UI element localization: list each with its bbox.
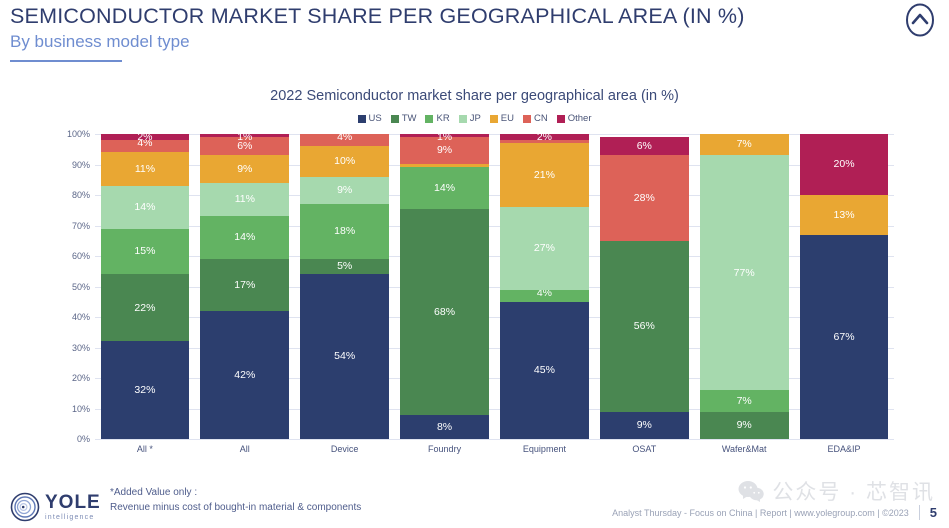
bar-segment-eu[interactable]: 13% — [800, 195, 889, 235]
legend-swatch-jp — [459, 115, 467, 123]
plot-area: 0%10%20%30%40%50%60%70%80%90%100% 32%22%… — [0, 134, 949, 454]
bar-segment-other[interactable]: 1% — [400, 134, 489, 137]
footer-bar: Analyst Thursday - Focus on China | Repo… — [612, 505, 937, 520]
bar-group: 32%22%15%14%11%4%2%42%17%14%11%9%6%1%54%… — [95, 134, 894, 439]
bar-segment-eu[interactable]: 21% — [500, 143, 589, 207]
chevron-up-circle-icon[interactable] — [903, 3, 937, 37]
bar-segment-label: 22% — [134, 303, 155, 314]
bar-segment-label: 9% — [437, 145, 452, 156]
y-tick-label: 0% — [52, 434, 90, 444]
bar-segment-kr[interactable]: 4% — [500, 290, 589, 302]
x-tick-label: Equipment — [500, 444, 589, 454]
page-number: 5 — [930, 505, 937, 520]
bar-segment-label: 67% — [834, 332, 855, 343]
legend-label-eu: EU — [501, 113, 514, 124]
bar-segment-kr[interactable]: 15% — [101, 229, 190, 275]
yole-spiral-icon — [10, 492, 40, 522]
bar-segment-label: 2% — [537, 132, 552, 143]
bar-segment-tw[interactable]: 56% — [600, 241, 689, 412]
bar-segment-tw[interactable]: 17% — [200, 259, 289, 311]
legend-label-tw: TW — [402, 113, 417, 124]
bar-segment-kr[interactable]: 18% — [300, 204, 389, 259]
bar-segment-us[interactable]: 45% — [500, 302, 589, 439]
y-axis: 0%10%20%30%40%50%60%70%80%90%100% — [52, 134, 90, 439]
bar-segment-label: 2% — [137, 132, 152, 143]
bar-segment-kr[interactable]: 14% — [400, 167, 489, 209]
bar-column[interactable]: 45%4%27%21%2% — [500, 134, 589, 439]
bar-column[interactable]: 9%56%28%6% — [600, 134, 689, 439]
bar-column[interactable]: 8%68%14%9%1% — [400, 134, 489, 439]
bar-segment-label: 7% — [737, 396, 752, 407]
bar-segment-us[interactable]: 42% — [200, 311, 289, 439]
bar-segment-label: 21% — [534, 170, 555, 181]
bar-segment-label: 68% — [434, 307, 455, 318]
bar-segment-label: 9% — [237, 164, 252, 175]
bar-segment-jp[interactable]: 14% — [101, 186, 190, 229]
bar-segment-label: 14% — [134, 202, 155, 213]
bar-segment-label: 1% — [437, 132, 452, 143]
bar-segment-eu[interactable]: 9% — [200, 155, 289, 182]
x-tick-label: Wafer&Mat — [700, 444, 789, 454]
bar-segment-label: 28% — [634, 193, 655, 204]
bar-column[interactable]: 54%5%18%9%10%4% — [300, 134, 389, 439]
bar-segment-label: 9% — [637, 420, 652, 431]
bar-segment-us[interactable]: 9% — [600, 412, 689, 439]
wechat-icon — [738, 480, 764, 502]
legend-label-us: US — [369, 113, 382, 124]
bar-segment-label: 4% — [337, 132, 352, 143]
bar-column[interactable]: 67%13%20% — [800, 134, 889, 439]
footnote-line-1: *Added Value only : — [110, 486, 361, 501]
watermark-text: 公众号 · 芯智讯 — [772, 476, 935, 506]
bar-segment-label: 11% — [235, 194, 255, 205]
bar-segment-label: 45% — [534, 365, 555, 376]
yole-wordmark: YOLE — [45, 493, 101, 512]
bar-segment-tw[interactable]: 68% — [400, 209, 489, 414]
bar-segment-label: 9% — [737, 420, 752, 431]
bar-segment-label: 9% — [337, 185, 352, 196]
y-tick-label: 20% — [52, 373, 90, 383]
bar-segment-label: 27% — [534, 243, 555, 254]
legend-swatch-us — [358, 115, 366, 123]
bar-segment-eu[interactable]: 11% — [101, 152, 190, 186]
page-title: SEMICONDUCTOR MARKET SHARE PER GEOGRAPHI… — [10, 4, 890, 29]
legend-swatch-cn — [523, 115, 531, 123]
legend-label-other: Other — [568, 113, 592, 124]
x-tick-label: OSAT — [600, 444, 689, 454]
bar-segment-label: 56% — [634, 321, 655, 332]
legend-item-kr[interactable]: KR — [425, 113, 449, 124]
y-tick-label: 40% — [52, 312, 90, 322]
yole-logo: YOLE intelligence — [10, 492, 101, 522]
bar-segment-us[interactable]: 54% — [300, 274, 389, 439]
y-tick-label: 70% — [52, 221, 90, 231]
chart-title: 2022 Semiconductor market share per geog… — [0, 88, 949, 104]
legend-item-us[interactable]: US — [358, 113, 382, 124]
bar-segment-label: 1% — [237, 132, 252, 143]
x-axis: All *AllDeviceFoundryEquipmentOSATWafer&… — [95, 444, 894, 454]
bar-segment-jp[interactable]: 77% — [700, 155, 789, 390]
legend-swatch-other — [557, 115, 565, 123]
legend-label-jp: JP — [470, 113, 481, 124]
slide-header: SEMICONDUCTOR MARKET SHARE PER GEOGRAPHI… — [10, 4, 890, 62]
x-tick-label: All * — [101, 444, 190, 454]
page-subtitle: By business model type — [10, 32, 890, 52]
y-tick-label: 30% — [52, 343, 90, 353]
bar-segment-label: 20% — [834, 159, 855, 170]
legend-item-cn[interactable]: CN — [523, 113, 548, 124]
y-tick-label: 10% — [52, 404, 90, 414]
x-tick-label: EDA&IP — [800, 444, 889, 454]
bar-segment-label: 14% — [234, 232, 255, 243]
bar-segment-us[interactable]: 8% — [400, 415, 489, 439]
bar-segment-cn[interactable]: 4% — [300, 134, 389, 146]
y-tick-label: 50% — [52, 282, 90, 292]
yole-logo-text: YOLE intelligence — [45, 493, 101, 521]
yole-tagline: intelligence — [45, 514, 101, 521]
legend-swatch-kr — [425, 115, 433, 123]
bar-segment-tw[interactable]: 9% — [700, 412, 789, 439]
bar-segment-eu[interactable]: 10% — [300, 146, 389, 177]
bar-segment-label: 14% — [434, 183, 455, 194]
bar-segment-other[interactable]: 2% — [101, 134, 190, 140]
bar-segment-label: 13% — [834, 210, 855, 221]
bar-segment-label: 15% — [134, 246, 155, 257]
bar-segment-us[interactable]: 67% — [800, 235, 889, 439]
bar-segment-label: 11% — [135, 164, 155, 175]
bar-segment-jp[interactable]: 27% — [500, 207, 589, 289]
x-tick-label: All — [200, 444, 289, 454]
bar-segment-tw[interactable]: 5% — [300, 259, 389, 274]
wechat-watermark: 公众号 · 芯智讯 — [738, 476, 935, 506]
chart-legend: USTWKRJPEUCNOther — [0, 113, 949, 124]
legend-item-eu[interactable]: EU — [490, 113, 514, 124]
legend-swatch-tw — [391, 115, 399, 123]
bar-segment-other[interactable]: 2% — [500, 134, 589, 140]
bar-segment-label: 7% — [737, 139, 752, 150]
bar-segment-jp[interactable]: 9% — [300, 177, 389, 204]
legend-item-tw[interactable]: TW — [391, 113, 417, 124]
footnote-line-2: Revenue minus cost of bought-in material… — [110, 501, 361, 516]
legend-label-cn: CN — [534, 113, 548, 124]
legend-item-other[interactable]: Other — [557, 113, 592, 124]
bar-segment-label: 5% — [337, 261, 352, 272]
grid-line — [95, 439, 894, 440]
x-tick-label: Device — [300, 444, 389, 454]
bar-segment-us[interactable]: 32% — [101, 341, 190, 439]
bar-column[interactable]: 32%22%15%14%11%4%2% — [101, 134, 190, 439]
bar-segment-other[interactable]: 1% — [200, 134, 289, 137]
y-tick-label: 100% — [52, 129, 90, 139]
bar-segment-cn[interactable]: 28% — [600, 155, 689, 240]
bar-segment-other[interactable]: 20% — [800, 134, 889, 195]
bar-segment-label: 42% — [234, 370, 255, 381]
bar-column[interactable]: 9%7%77%7% — [700, 134, 789, 439]
legend-swatch-eu — [490, 115, 498, 123]
x-tick-label: Foundry — [400, 444, 489, 454]
bar-column[interactable]: 42%17%14%11%9%6%1% — [200, 134, 289, 439]
legend-item-jp[interactable]: JP — [459, 113, 481, 124]
footer-credit: Analyst Thursday - Focus on China | Repo… — [612, 508, 909, 518]
bar-segment-label: 17% — [234, 280, 255, 291]
bar-segment-label: 32% — [134, 385, 155, 396]
bar-segment-label: 6% — [637, 141, 652, 152]
bar-segment-label: 54% — [334, 351, 355, 362]
subtitle-underline — [10, 60, 122, 62]
bar-segment-label: 8% — [437, 422, 452, 433]
bar-segment-eu[interactable]: 7% — [700, 134, 789, 155]
bar-segment-eu[interactable] — [400, 164, 489, 167]
bar-segment-kr[interactable]: 7% — [700, 390, 789, 411]
bar-segment-label: 18% — [334, 226, 355, 237]
y-tick-label: 60% — [52, 251, 90, 261]
y-tick-label: 80% — [52, 190, 90, 200]
bar-segment-tw[interactable]: 22% — [101, 274, 190, 341]
bar-segment-label: 77% — [734, 268, 755, 279]
footnote: *Added Value only : Revenue minus cost o… — [110, 486, 361, 515]
bar-segment-other[interactable]: 6% — [600, 137, 689, 155]
slide-page: SEMICONDUCTOR MARKET SHARE PER GEOGRAPHI… — [0, 0, 949, 528]
legend-label-kr: KR — [436, 113, 449, 124]
footer-divider — [919, 505, 920, 520]
bar-segment-jp[interactable]: 11% — [200, 183, 289, 217]
bar-segment-label: 10% — [334, 156, 355, 167]
chart-container: 2022 Semiconductor market share per geog… — [0, 88, 949, 478]
y-tick-label: 90% — [52, 160, 90, 170]
bar-segment-kr[interactable]: 14% — [200, 216, 289, 259]
